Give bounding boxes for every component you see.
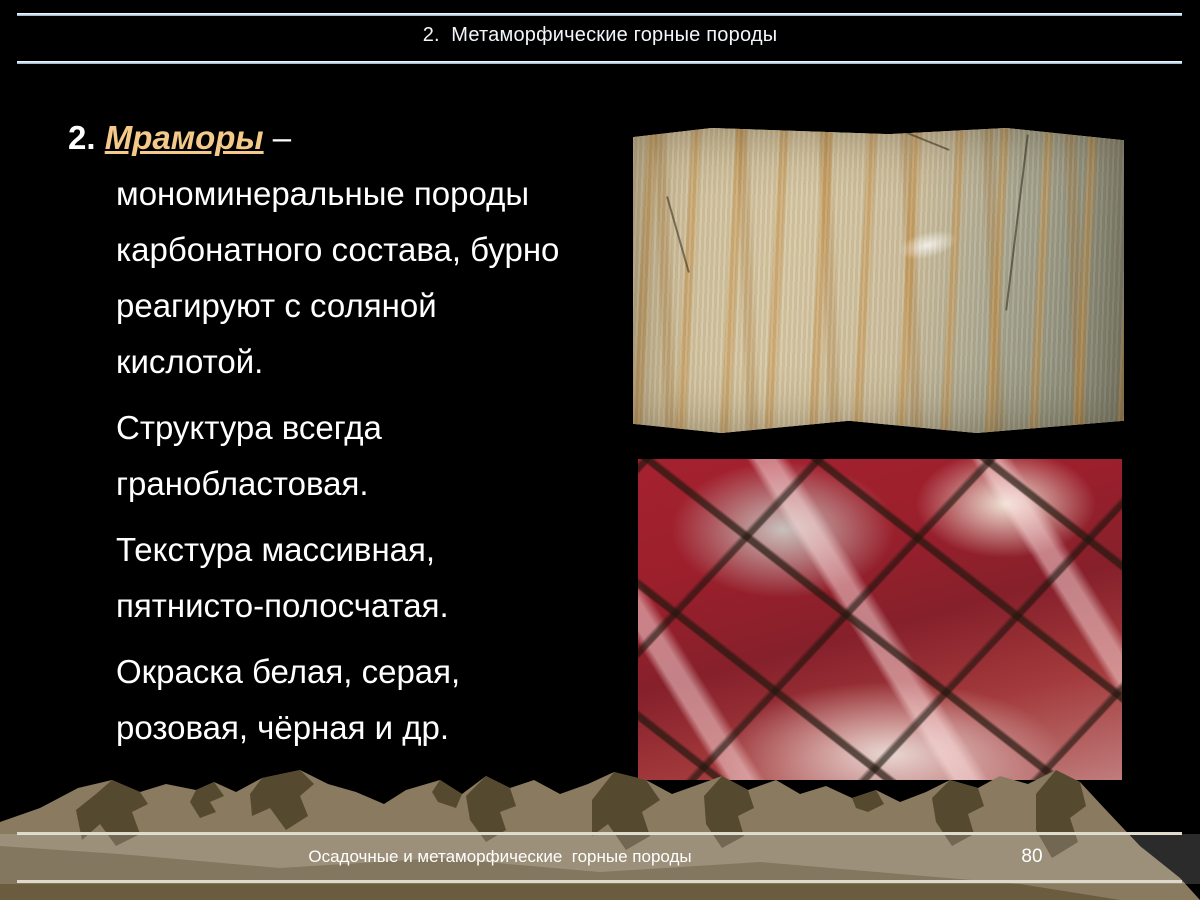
item-number: 2. [68, 119, 96, 156]
header-rule-bottom [17, 61, 1182, 64]
slab-crack [666, 196, 690, 273]
slab-highlight [896, 225, 961, 265]
marble-specimen-beige-image [633, 110, 1124, 453]
texture-paragraph: Текстура массивная, пятнисто-полосчатая. [68, 522, 588, 634]
footer-rule-bottom [17, 880, 1182, 883]
term-marbles: Мраморы [105, 119, 264, 156]
page-number: 80 [1000, 846, 1064, 868]
slab-crack [904, 131, 949, 151]
slab-crack [1005, 135, 1029, 311]
slide-root: 2. Метаморфические горные породы 2. Мрам… [0, 0, 1200, 900]
spacer [96, 119, 105, 156]
footer-title: Осадочные и метаморфические горные пород… [0, 847, 1000, 867]
header-rule-top [17, 13, 1182, 16]
structure-paragraph: Структура всегда гранобластовая. [68, 400, 588, 512]
page-title: 2. Метаморфические горные породы [0, 24, 1200, 47]
slide-header: 2. Метаморфические горные породы [0, 0, 1200, 78]
definition-text: – мономинеральные породы карбонатного со… [116, 119, 559, 380]
content-text-column: 2. Мраморы – мономинеральные породы карб… [68, 110, 588, 766]
definition-paragraph: 2. Мраморы – мономинеральные породы карб… [68, 110, 588, 390]
beige-marble-slab [633, 128, 1124, 433]
color-paragraph: Окраска белая, серая, розовая, чёрная и … [68, 644, 588, 756]
marble-specimen-red-image [638, 459, 1122, 780]
